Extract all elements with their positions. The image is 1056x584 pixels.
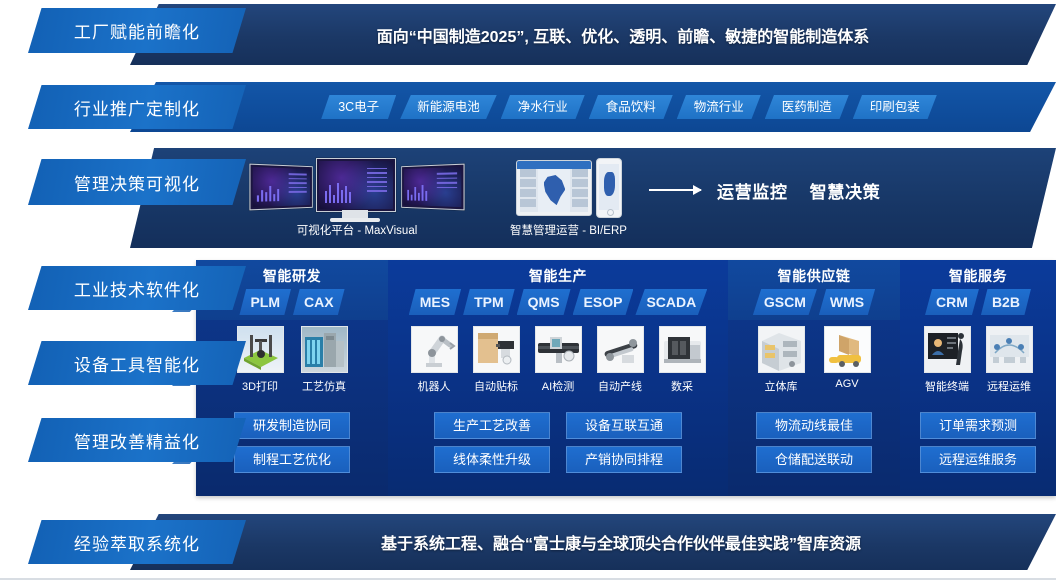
bi-erp-caption: 智慧管理运营 - BI/ERP — [510, 222, 627, 238]
auto-production-line-icon — [597, 326, 644, 373]
outcome-pill[interactable]: 订单需求预测 — [920, 412, 1036, 439]
icon-tile-auto-line[interactable]: 自动产线 — [596, 326, 644, 394]
icon-label-data-acq: 数采 — [671, 378, 693, 394]
sidebar-label-foresight: 工厂赋能前瞻化 — [74, 18, 200, 43]
icon-label-smart-terminal: 智能终端 — [925, 378, 969, 394]
software-tag-b2b[interactable]: B2B — [981, 289, 1031, 315]
software-tag-cax[interactable]: CAX — [293, 289, 345, 315]
sidebar-label-visualization: 管理决策可视化 — [74, 170, 200, 195]
monitor-left — [249, 164, 312, 211]
industry-chip[interactable]: 物流行业 — [677, 95, 761, 119]
icon-label-robot: 机器人 — [418, 378, 451, 394]
outcome-pill[interactable]: 研发制造协同 — [234, 412, 350, 439]
industry-chip[interactable]: 医药制造 — [765, 95, 849, 119]
icon-label-3d-print: 3D打印 — [242, 378, 278, 394]
visualization-content: 可视化平台 - MaxVisual — [130, 148, 1056, 248]
3d-printer-icon — [237, 326, 284, 373]
bottom-divider — [0, 578, 1056, 580]
column-production: 智能生产 MES TPM QMS ESOP SCADA — [388, 260, 728, 496]
data-acquisition-icon — [659, 326, 706, 373]
foresight-banner-text: 面向“中国制造2025”, 互联、优化、透明、前瞻、敏捷的智能制造体系 — [130, 23, 1056, 47]
column-service: 智能服务 CRM B2B — [900, 260, 1056, 496]
industry-band: 3C电子 新能源电池 净水行业 食品饮料 物流行业 医药制造 印刷包装 — [130, 82, 1056, 132]
tag-row-service: CRM B2B — [900, 289, 1056, 315]
pill-stack-service: 订单需求预测 远程运维服务 — [900, 412, 1056, 473]
icon-tile-smart-terminal[interactable]: 智能终端 — [923, 326, 971, 394]
tag-row-production: MES TPM QMS ESOP SCADA — [388, 289, 728, 315]
software-tag-mes[interactable]: MES — [409, 289, 461, 315]
outcome-pill[interactable]: 制程工艺优化 — [234, 446, 350, 473]
sidebar-item-experience[interactable]: 经验萃取系统化 — [28, 520, 246, 564]
software-tag-wms[interactable]: WMS — [819, 289, 875, 315]
outcome-pill[interactable]: 物流动线最佳 — [756, 412, 872, 439]
outcome-pill[interactable]: 远程运维服务 — [920, 446, 1036, 473]
outcome-pill[interactable]: 设备互联互通 — [566, 412, 682, 439]
capability-panel: 智能研发 PLM CAX — [196, 260, 1056, 496]
remote-maintenance-icon — [986, 326, 1033, 373]
tablet-phone-icon — [516, 158, 620, 216]
software-tag-esop[interactable]: ESOP — [573, 289, 634, 315]
sidebar-item-foresight[interactable]: 工厂赋能前瞻化 — [28, 8, 246, 53]
pill-group-row1: 生产工艺改善 设备互联互通 — [434, 412, 682, 439]
phone-icon — [596, 158, 622, 218]
icon-label-remote-maint: 远程运维 — [987, 378, 1031, 394]
sidebar-item-visualization[interactable]: 管理决策可视化 — [28, 159, 246, 205]
icon-tile-process-sim[interactable]: 工艺仿真 — [300, 326, 348, 394]
outcome-pill[interactable]: 生产工艺改善 — [434, 412, 550, 439]
sidebar-label-experience: 经验萃取系统化 — [74, 530, 200, 555]
monitor-stand — [342, 210, 368, 219]
industry-chip[interactable]: 新能源电池 — [400, 95, 497, 119]
flow-arrow-icon — [649, 189, 701, 191]
robot-arm-icon — [411, 326, 458, 373]
ai-inspection-icon — [535, 326, 582, 373]
icon-tile-ai-inspection[interactable]: AI检测 — [534, 326, 582, 394]
icon-row-supply-chain: 立体库 AGV — [728, 326, 900, 394]
column-title-service: 智能服务 — [949, 266, 1007, 286]
column-supply-chain: 智能供应链 GSCM WMS — [728, 260, 900, 496]
monitor-center — [316, 158, 396, 212]
monitor-right — [401, 164, 464, 211]
icon-tile-agv[interactable]: AGV — [823, 326, 871, 390]
icon-tile-robot[interactable]: 机器人 — [410, 326, 458, 394]
sidebar-label-equipment: 设备工具智能化 — [74, 351, 200, 376]
icon-tile-data-acq[interactable]: 数采 — [658, 326, 706, 394]
agv-icon — [824, 326, 871, 373]
tag-row-supply-chain: GSCM WMS — [728, 289, 900, 315]
industry-chip[interactable]: 印刷包装 — [853, 95, 937, 119]
visualization-outcomes: 运营监控 智慧决策 — [717, 178, 880, 203]
sidebar-label-software: 工业技术软件化 — [74, 276, 200, 301]
industry-chip-row: 3C电子 新能源电池 净水行业 食品饮料 物流行业 医药制造 印刷包装 — [130, 82, 1056, 132]
column-title-production: 智能生产 — [529, 266, 587, 286]
software-tag-plm[interactable]: PLM — [239, 289, 291, 315]
experience-banner: 基于系统工程、融合“富士康与全球顶尖合作伙伴最佳实践”智库资源 — [130, 514, 1056, 570]
sidebar-item-equipment[interactable]: 设备工具智能化 — [28, 341, 246, 385]
pill-stack-supply-chain: 物流动线最佳 仓储配送联动 — [728, 412, 900, 473]
software-tag-gscm[interactable]: GSCM — [753, 289, 817, 315]
icon-row-production: 机器人 自动贴标 — [388, 326, 728, 394]
sidebar-item-industry[interactable]: 行业推广定制化 — [28, 85, 246, 129]
icon-label-warehouse: 立体库 — [765, 378, 798, 394]
sidebar-label-management: 管理改善精益化 — [74, 428, 200, 453]
smart-terminal-icon — [924, 326, 971, 373]
industry-chip[interactable]: 食品饮料 — [589, 95, 673, 119]
pill-group-row2: 线体柔性升级 产销协同排程 — [434, 446, 682, 473]
triple-monitor-icon — [250, 158, 464, 216]
outcome-pill[interactable]: 仓储配送联动 — [756, 446, 872, 473]
sidebar-item-management[interactable]: 管理改善精益化 — [28, 418, 246, 462]
outcome-monitoring: 运营监控 — [717, 178, 788, 203]
outcome-pill[interactable]: 产销协同排程 — [566, 446, 682, 473]
diagram-canvas: 面向“中国制造2025”, 互联、优化、透明、前瞻、敏捷的智能制造体系 工厂赋能… — [0, 0, 1056, 584]
tablet-icon — [516, 160, 592, 216]
software-tag-crm[interactable]: CRM — [925, 289, 979, 315]
experience-banner-text: 基于系统工程、融合“富士康与全球顶尖合作伙伴最佳实践”智库资源 — [130, 530, 1056, 554]
maxvisual-block: 可视化平台 - MaxVisual — [250, 158, 464, 238]
sidebar-label-industry: 行业推广定制化 — [74, 95, 200, 120]
software-tag-tpm[interactable]: TPM — [463, 289, 515, 315]
icon-tile-warehouse[interactable]: 立体库 — [757, 326, 805, 394]
icon-tile-labeling[interactable]: 自动贴标 — [472, 326, 520, 394]
visualization-band: 可视化平台 - MaxVisual — [130, 148, 1056, 248]
industry-chip[interactable]: 3C电子 — [321, 95, 396, 119]
software-tag-qms[interactable]: QMS — [517, 289, 571, 315]
outcome-pill[interactable]: 线体柔性升级 — [434, 446, 550, 473]
process-simulation-icon — [301, 326, 348, 373]
icon-row-service: 智能终端 — [900, 326, 1056, 394]
icon-tile-remote-maint[interactable]: 远程运维 — [985, 326, 1033, 394]
column-title-rnd: 智能研发 — [263, 266, 321, 286]
industry-chip[interactable]: 净水行业 — [501, 95, 585, 119]
pill-stack-production: 生产工艺改善 设备互联互通 线体柔性升级 产销协同排程 — [388, 412, 728, 473]
bi-erp-block: 智慧管理运营 - BI/ERP — [510, 158, 627, 238]
sidebar-item-software[interactable]: 工业技术软件化 — [28, 266, 246, 310]
icon-tile-3d-print[interactable]: 3D打印 — [236, 326, 284, 394]
icon-label-process-sim: 工艺仿真 — [302, 378, 346, 394]
maxvisual-caption: 可视化平台 - MaxVisual — [297, 222, 418, 238]
icon-label-auto-line: 自动产线 — [598, 378, 642, 394]
foresight-banner: 面向“中国制造2025”, 互联、优化、透明、前瞻、敏捷的智能制造体系 — [130, 4, 1056, 65]
icon-label-ai-inspection: AI检测 — [542, 378, 574, 394]
icon-label-agv: AGV — [835, 378, 858, 390]
auto-labeling-icon — [473, 326, 520, 373]
column-title-supply-chain: 智能供应链 — [778, 266, 851, 286]
outcome-decision: 智慧决策 — [810, 178, 881, 203]
icon-label-labeling: 自动贴标 — [474, 378, 518, 394]
stereoscopic-warehouse-icon — [758, 326, 805, 373]
software-tag-scada[interactable]: SCADA — [635, 289, 707, 315]
